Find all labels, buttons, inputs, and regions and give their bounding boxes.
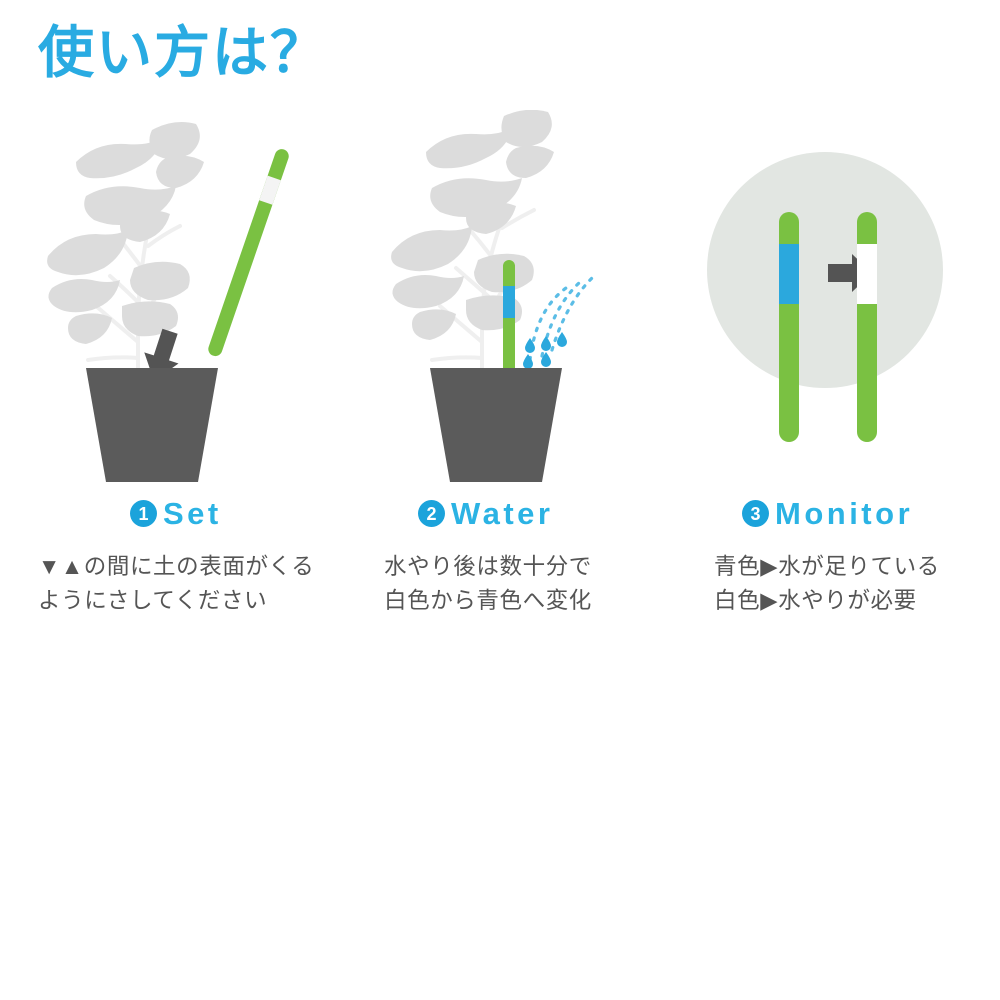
infographic-page: 使い方は？	[0, 0, 1000, 1000]
probe-indicator-blue	[779, 244, 799, 304]
step-name: Set	[163, 498, 222, 529]
probe-body	[206, 147, 290, 358]
plant-with-watering-graphic	[370, 110, 680, 490]
step-3-caption: 青色▶水が足りている 白色▶水やりが必要	[714, 550, 940, 618]
moisture-probe-tilted	[206, 147, 290, 358]
step-number-badge: 3	[742, 500, 769, 527]
probe-blue-state	[779, 212, 799, 442]
probe-white-state	[857, 212, 877, 442]
probe-comparison-graphic	[700, 140, 990, 470]
plant-leaves	[47, 122, 204, 344]
step-number-badge: 1	[130, 500, 157, 527]
step-1-illustration	[30, 110, 340, 490]
step-1-label: 1 Set	[130, 498, 222, 529]
step-name: Water	[451, 498, 553, 529]
comparison-circle-background	[707, 152, 943, 388]
steps-container: 1 Set ▼▲の間に土の表面がくる ようにさしてください	[0, 110, 1000, 630]
flower-pot	[86, 368, 218, 482]
flower-pot	[430, 368, 562, 482]
step-3-illustration	[700, 110, 1000, 490]
probe-indicator-white	[857, 244, 877, 304]
step-1-caption: ▼▲の間に土の表面がくる ようにさしてください	[38, 550, 314, 618]
probe-indicator-blue	[503, 286, 515, 318]
step-card-3: 3 Monitor 青色▶水が足りている 白色▶水やりが必要	[700, 110, 1000, 630]
probe-indicator-window	[259, 176, 281, 205]
step-card-2: 2 Water 水やり後は数十分で 白色から青色へ変化	[370, 110, 680, 630]
step-3-label: 3 Monitor	[742, 498, 913, 529]
caption-line-1: ▼▲の間に土の表面がくる	[38, 550, 314, 584]
water-stream-lines	[530, 278, 592, 360]
caption-line-2: 白色▶水やりが必要	[714, 584, 940, 618]
caption-line-1: 水やり後は数十分で	[384, 550, 592, 584]
page-title: 使い方は？	[38, 22, 328, 84]
step-2-label: 2 Water	[418, 498, 553, 529]
step-2-illustration	[370, 110, 680, 490]
caption-line-1: 青色▶水が足りている	[714, 550, 940, 584]
caption-line-2: ようにさしてください	[38, 584, 314, 618]
step-name: Monitor	[775, 498, 913, 529]
caption-line-2: 白色から青色へ変化	[384, 584, 592, 618]
step-2-caption: 水やり後は数十分で 白色から青色へ変化	[384, 550, 592, 618]
step-card-1: 1 Set ▼▲の間に土の表面がくる ようにさしてください	[30, 110, 340, 630]
plant-with-tilted-probe-graphic	[30, 110, 340, 490]
plant-leaves	[391, 110, 554, 340]
step-number-badge: 2	[418, 500, 445, 527]
